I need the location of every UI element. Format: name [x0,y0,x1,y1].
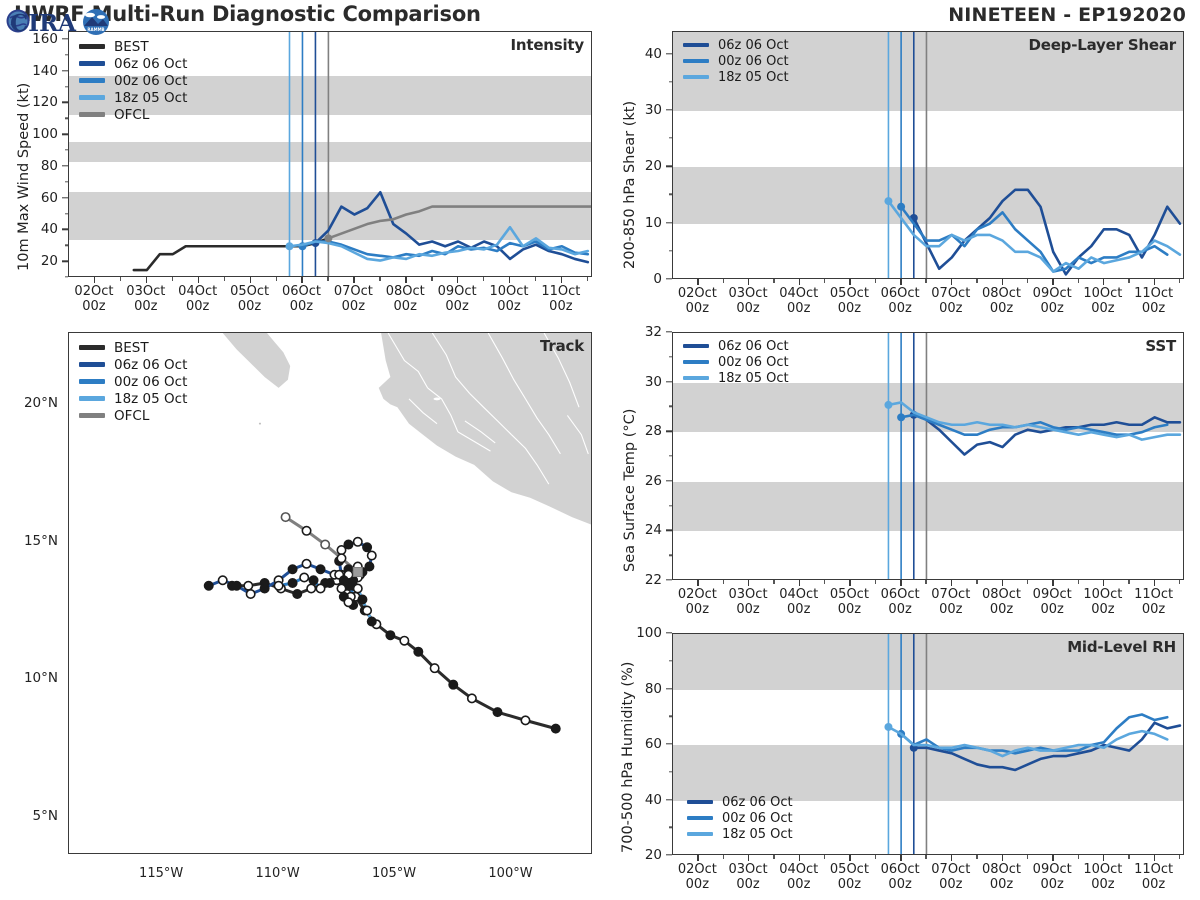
x-tick-day: 04Oct [779,286,818,301]
x-tick-mark [1052,580,1053,586]
y-tick-label: 40 [645,792,662,808]
x-tick-day: 09Oct [438,284,477,299]
y-tick-label: 20 [645,847,662,863]
longitude-tick-label: 115°W [139,866,183,881]
legend-swatch [79,61,105,65]
track-marker-12z [368,551,376,559]
legend-item: 00z 06 Oct [79,373,187,390]
sst-plot-area: SST 06z 06 Oct00z 06 Oct18z 05 Oct [672,332,1184,580]
legend-label: 06z 06 Oct [718,38,789,53]
intensity-legend: BEST06z 06 Oct00z 06 Oct18z 05 OctOFCL [79,38,187,123]
track-marker-00z [326,579,334,587]
x-tick-mark [1052,279,1053,285]
x-tick-day: 05Oct [830,587,869,602]
x-tick-label: 04Oct00z [779,587,818,617]
x-tick-hour: 00z [787,602,810,617]
x-tick-minor [824,580,825,584]
y-tick-minor [669,455,673,456]
track-marker-00z [293,590,301,598]
y-tick-minor [669,356,673,357]
x-tick-mark [748,855,749,861]
y-tick-mark [62,260,68,261]
x-tick-mark [849,279,850,285]
legend-item: 00z 06 Oct [683,53,789,69]
y-tick-mark [666,109,672,110]
shear-y-axis-label: 200-850 hPa Shear (kt) [622,101,638,269]
y-tick-label: 10 [645,215,662,231]
x-tick-hour: 00z [686,602,709,617]
x-tick-day: 03Oct [729,587,768,602]
y-tick-mark [666,381,672,382]
legend-item: 18z 05 Oct [79,390,187,407]
x-tick-mark [849,855,850,861]
legend-label: 18z 05 Oct [114,391,187,407]
x-tick-label: 04Oct00z [178,284,217,314]
legend-item: 06z 06 Oct [79,356,187,373]
x-tick-hour: 00z [888,602,911,617]
latitude-tick-label: 5°N [33,808,58,824]
legend-label: OFCL [114,107,149,123]
track-marker-12z [337,584,345,592]
series-line [134,238,329,270]
legend-label: BEST [114,340,149,356]
y-tick-minor [669,81,673,82]
x-tick-mark [1002,580,1003,586]
x-tick-day: 03Oct [729,862,768,877]
shear-panel-label: Deep-Layer Shear [1028,36,1176,54]
x-tick-hour: 00z [1041,301,1064,316]
x-tick-minor [1128,855,1129,859]
sst-panel-label: SST [1145,337,1176,355]
x-tick-day: 08Oct [386,284,425,299]
x-tick-hour: 00z [1142,301,1165,316]
x-tick-day: 03Oct [729,286,768,301]
track-marker-00z [552,724,560,732]
x-tick-label: 08Oct00z [386,284,425,314]
x-tick-label: 04Oct00z [779,286,818,316]
track-marker-00z [414,647,422,655]
x-tick-hour: 00z [186,299,209,314]
x-tick-day: 06Oct [881,862,920,877]
x-tick-day: 09Oct [1033,587,1072,602]
legend-label: 06z 06 Oct [722,795,793,810]
x-tick-label: 10Oct00z [1083,862,1122,892]
x-tick-mark [799,855,800,861]
legend-label: 00z 06 Oct [718,355,789,370]
x-tick-day: 02Oct [678,862,717,877]
shear-panel: Deep-Layer Shear 06z 06 Oct00z 06 Oct18z… [672,31,1184,279]
x-tick-label: 03Oct00z [126,284,165,314]
x-tick-label: 07Oct00z [931,286,970,316]
track-marker-00z [288,565,296,573]
legend-swatch [687,816,713,820]
x-tick-minor [172,277,173,281]
y-tick-minor [65,118,69,119]
x-tick-day: 02Oct [678,587,717,602]
x-tick-day: 07Oct [931,587,970,602]
x-tick-mark [951,855,952,861]
y-tick-label: 80 [41,158,58,174]
svg-text:CIRA: CIRA [10,10,77,37]
legend-swatch [79,112,105,116]
legend-swatch [683,43,709,47]
y-tick-label: 26 [645,473,662,489]
x-tick-minor [120,277,121,281]
x-tick-day: 09Oct [1033,286,1072,301]
x-tick-mark [748,279,749,285]
y-tick-mark [666,743,672,744]
x-tick-minor [276,277,277,281]
track-marker-00z [363,543,371,551]
x-tick-hour: 00z [939,301,962,316]
legend-swatch [687,832,713,836]
x-tick-minor [925,580,926,584]
x-tick-mark [697,580,698,586]
x-tick-hour: 00z [888,877,911,892]
x-tick-mark [94,277,95,283]
track-plot-area: Track BEST06z 06 Oct00z 06 Oct18z 05 Oct… [68,332,592,854]
y-tick-mark [666,331,672,332]
x-tick-minor [723,855,724,859]
x-tick-minor [1078,855,1079,859]
x-tick-hour: 00z [686,301,709,316]
track-marker-12z [244,582,252,590]
x-tick-minor [1078,279,1079,283]
x-tick-hour: 00z [1142,877,1165,892]
x-tick-label: 06Oct00z [881,862,920,892]
x-tick-hour: 00z [238,299,261,314]
legend-label: 00z 06 Oct [718,54,789,69]
x-tick-day: 06Oct [881,587,920,602]
cira-rammb-logo: CIRA RAMMB [4,0,112,40]
track-panel-label: Track [540,337,584,355]
x-tick-mark [900,580,901,586]
x-tick-day: 08Oct [982,862,1021,877]
y-tick-mark [62,165,68,166]
x-tick-label: 11Oct00z [1134,587,1173,617]
x-tick-hour: 00z [342,299,365,314]
x-tick-mark [1103,580,1104,586]
x-tick-hour: 00z [82,299,105,314]
x-tick-mark [198,277,199,283]
track-marker-12z [363,606,371,614]
x-tick-hour: 00z [736,301,759,316]
x-tick-hour: 00z [445,299,468,314]
x-tick-minor [723,279,724,283]
x-tick-mark [697,855,698,861]
x-tick-minor [224,277,225,281]
y-tick-mark [666,632,672,633]
x-tick-label: 05Oct00z [830,286,869,316]
y-tick-label: 60 [41,190,58,206]
y-tick-mark [62,133,68,134]
x-tick-hour: 00z [736,602,759,617]
x-tick-minor [875,855,876,859]
y-tick-minor [65,149,69,150]
legend-label: 06z 06 Oct [718,339,789,354]
track-marker-12z [468,694,476,702]
longitude-tick-label: 110°W [256,866,300,881]
x-tick-day: 10Oct [489,284,528,299]
x-tick-mark [301,277,302,283]
series-line [328,207,592,239]
x-tick-day: 11Oct [1134,862,1173,877]
legend-label: OFCL [114,408,149,424]
x-tick-hour: 00z [990,602,1013,617]
x-tick-label: 02Oct00z [678,587,717,617]
legend-swatch [79,95,105,99]
x-tick-minor [1027,855,1028,859]
rh-panel: Mid-Level RH 06z 06 Oct00z 06 Oct18z 05 … [672,633,1184,855]
legend-swatch [79,362,105,366]
x-tick-day: 10Oct [1083,862,1122,877]
x-tick-mark [561,277,562,283]
legend-swatch [79,396,105,400]
y-tick-minor [65,213,69,214]
y-tick-label: 0 [653,271,662,287]
legend-item: 18z 05 Oct [683,370,789,386]
series-init-marker [897,413,905,421]
x-tick-label: 08Oct00z [982,587,1021,617]
x-tick-label: 08Oct00z [982,862,1021,892]
x-tick-day: 02Oct [74,284,113,299]
legend-swatch [683,360,709,364]
x-tick-label: 09Oct00z [438,284,477,314]
x-tick-hour: 00z [838,301,861,316]
x-tick-hour: 00z [1091,602,1114,617]
y-tick-label: 28 [645,423,662,439]
track-marker-12z [400,637,408,645]
y-tick-mark [666,222,672,223]
y-tick-minor [669,716,673,717]
track-legend: BEST06z 06 Oct00z 06 Oct18z 05 OctOFCL [79,339,187,424]
legend-item: 06z 06 Oct [79,55,187,72]
x-tick-label: 05Oct00z [830,862,869,892]
track-marker-12z [430,664,438,672]
x-tick-day: 04Oct [178,284,217,299]
x-tick-mark [509,277,510,283]
x-tick-mark [697,279,698,285]
x-tick-minor [1027,580,1028,584]
track-marker-00z [288,579,296,587]
legend-item: 18z 05 Oct [683,69,789,85]
x-tick-mark [951,279,952,285]
x-tick-label: 08Oct00z [982,286,1021,316]
x-tick-label: 05Oct00z [830,587,869,617]
x-tick-day: 04Oct [779,862,818,877]
y-tick-label: 40 [645,46,662,62]
y-tick-mark [666,799,672,800]
sst-panel: SST 06z 06 Oct00z 06 Oct18z 05 Oct 22242… [672,332,1184,580]
x-tick-minor [1179,580,1180,584]
x-tick-hour: 00z [787,301,810,316]
x-tick-mark [1154,580,1155,586]
x-tick-minor [1128,580,1129,584]
latitude-tick-label: 10°N [24,670,58,686]
x-tick-minor [483,277,484,281]
y-tick-label: 32 [645,324,662,340]
x-tick-minor [1128,279,1129,283]
x-tick-day: 05Oct [230,284,269,299]
x-tick-mark [1103,855,1104,861]
y-tick-label: 30 [645,102,662,118]
legend-swatch [79,345,105,349]
legend-label: 18z 05 Oct [722,827,793,842]
track-marker-00z [309,576,317,584]
track-marker-12z [307,584,315,592]
x-tick-day: 04Oct [779,587,818,602]
y-tick-mark [666,278,672,279]
y-tick-label: 20 [41,253,58,269]
track-marker-00z [321,540,329,548]
legend-label: 06z 06 Oct [114,56,187,72]
x-tick-day: 08Oct [982,587,1021,602]
series-init-marker [285,242,293,250]
x-tick-hour: 00z [290,299,313,314]
legend-swatch [79,78,105,82]
x-tick-mark [1002,279,1003,285]
x-tick-minor [1179,855,1180,859]
legend-label: 18z 05 Oct [114,90,187,106]
legend-item: OFCL [79,407,187,424]
legend-item: 00z 06 Oct [79,72,187,89]
y-tick-label: 20 [645,158,662,174]
legend-label: 00z 06 Oct [114,73,187,89]
y-tick-mark [666,530,672,531]
y-tick-minor [669,250,673,251]
x-tick-hour: 00z [990,877,1013,892]
x-tick-minor [824,279,825,283]
track-marker-00z [281,513,289,521]
y-tick-label: 140 [32,63,58,79]
x-tick-hour: 00z [134,299,157,314]
y-tick-mark [666,688,672,689]
x-tick-day: 09Oct [1033,862,1072,877]
track-marker-12z [521,716,529,724]
x-tick-label: 10Oct00z [1083,286,1122,316]
x-tick-label: 09Oct00z [1033,286,1072,316]
x-tick-minor [431,277,432,281]
x-tick-day: 10Oct [1083,286,1122,301]
y-tick-minor [669,554,673,555]
y-tick-mark [62,70,68,71]
y-tick-minor [65,181,69,182]
x-tick-day: 03Oct [126,284,165,299]
x-tick-day: 06Oct [282,284,321,299]
y-tick-label: 22 [645,572,662,588]
series-init-marker [884,401,892,409]
x-tick-hour: 00z [838,602,861,617]
y-tick-mark [62,197,68,198]
x-tick-mark [146,277,147,283]
y-tick-label: 80 [645,681,662,697]
y-tick-mark [666,579,672,580]
x-tick-minor [773,855,774,859]
x-tick-hour: 00z [497,299,520,314]
x-tick-minor [587,277,588,281]
x-tick-minor [773,279,774,283]
intensity-panel: Intensity BEST06z 06 Oct00z 06 Oct18z 05… [68,31,592,277]
x-tick-label: 11Oct00z [1134,862,1173,892]
x-tick-label: 02Oct00z [678,286,717,316]
x-tick-mark [849,580,850,586]
track-marker-12z [337,554,345,562]
y-tick-mark [666,480,672,481]
track-marker-12z [246,590,254,598]
x-tick-mark [250,277,251,283]
ofcl-init-marker [353,568,362,577]
x-tick-label: 02Oct00z [678,862,717,892]
x-tick-minor [976,279,977,283]
x-tick-minor [327,277,328,281]
x-tick-hour: 00z [1091,301,1114,316]
track-marker-00z [449,680,457,688]
x-tick-label: 03Oct00z [729,587,768,617]
x-tick-label: 02Oct00z [74,284,113,314]
intensity-panel-label: Intensity [510,36,584,54]
x-tick-hour: 00z [686,877,709,892]
rh-panel-label: Mid-Level RH [1067,638,1176,656]
track-marker-12z [302,527,310,535]
rh-legend: 06z 06 Oct00z 06 Oct18z 05 Oct [687,794,793,842]
series-line [901,207,1167,272]
series-init-marker [324,234,332,242]
y-tick-label: 60 [645,736,662,752]
x-tick-day: 07Oct [931,286,970,301]
track-marker-00z [205,582,213,590]
x-tick-day: 05Oct [830,862,869,877]
legend-swatch [79,379,105,383]
legend-item: 06z 06 Oct [683,37,789,53]
x-tick-mark [405,277,406,283]
x-tick-mark [748,580,749,586]
x-tick-hour: 00z [838,877,861,892]
x-tick-label: 11Oct00z [1134,286,1173,316]
x-tick-hour: 00z [1091,877,1114,892]
legend-item: OFCL [79,106,187,123]
track-marker-12z [316,584,324,592]
x-tick-hour: 00z [1142,602,1165,617]
y-tick-minor [669,406,673,407]
y-tick-label: 120 [32,94,58,110]
x-tick-label: 07Oct00z [931,587,970,617]
x-tick-hour: 00z [1041,602,1064,617]
shear-plot-area: Deep-Layer Shear 06z 06 Oct00z 06 Oct18z… [672,31,1184,279]
track-marker-12z [344,598,352,606]
track-marker-12z [219,576,227,584]
legend-item: BEST [79,38,187,55]
x-tick-day: 11Oct [541,284,580,299]
latitude-tick-label: 20°N [24,395,58,411]
legend-swatch [683,376,709,380]
sst-legend: 06z 06 Oct00z 06 Oct18z 05 Oct [683,338,789,386]
x-tick-label: 09Oct00z [1033,862,1072,892]
x-tick-mark [1154,279,1155,285]
x-tick-label: 04Oct00z [779,862,818,892]
track-marker-12z [300,573,308,581]
x-tick-minor [773,580,774,584]
x-tick-day: 11Oct [1134,587,1173,602]
x-tick-label: 05Oct00z [230,284,269,314]
track-marker-00z [316,565,324,573]
x-tick-day: 11Oct [1134,286,1173,301]
sst-y-axis-label: Sea Surface Temp (°C) [622,409,638,572]
y-tick-label: 40 [41,221,58,237]
track-marker-00z [386,631,394,639]
legend-item: 00z 06 Oct [687,810,793,826]
legend-label: 00z 06 Oct [114,374,187,390]
series-init-marker [884,197,892,205]
